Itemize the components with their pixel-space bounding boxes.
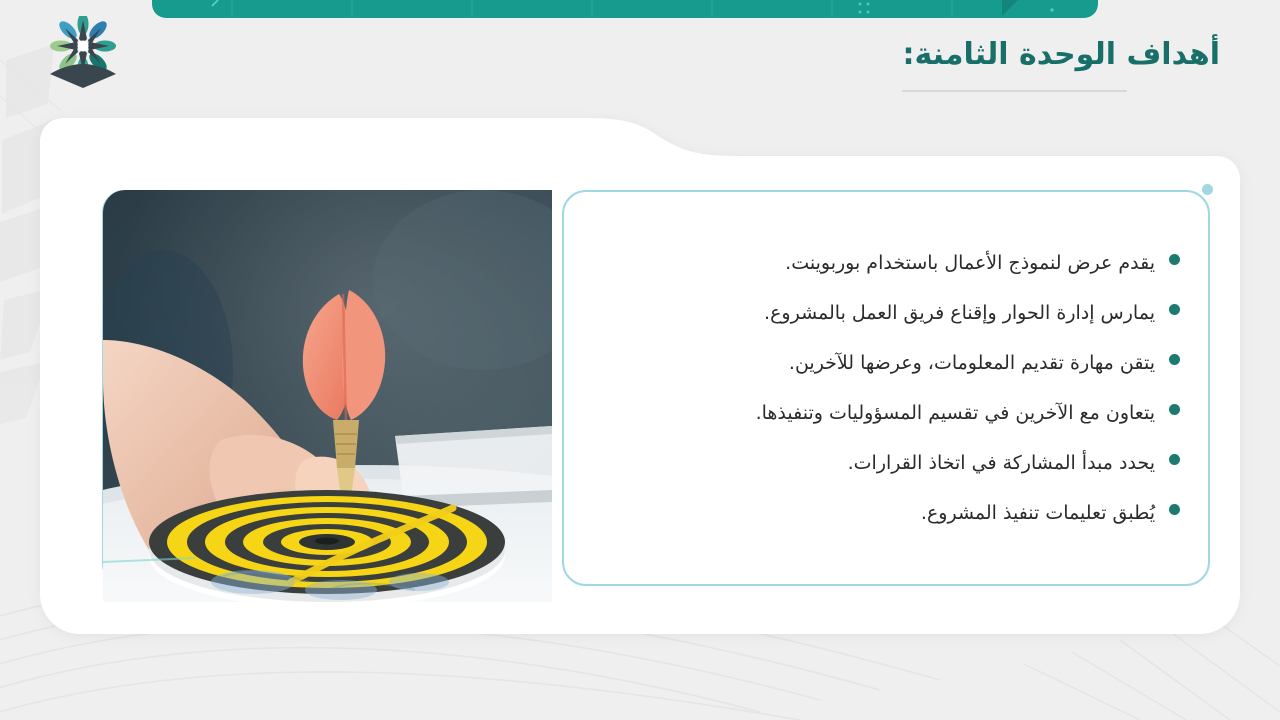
bullet-dot-icon [1169,454,1180,465]
objective-text: يُطبق تعليمات تنفيذ المشروع. [921,488,1155,538]
bullet-dot-icon [1169,404,1180,415]
top-accent-bar [152,0,1098,18]
list-item: يُطبق تعليمات تنفيذ المشروع. [596,488,1180,538]
list-item: يتقن مهارة تقديم المعلومات، وعرضها للآخر… [596,338,1180,388]
bullet-dot-icon [1169,354,1180,365]
title-underline [902,90,1127,92]
list-item: يقدم عرض لنموذج الأعمال باستخدام بوربوين… [596,238,1180,288]
dart-on-target-photo [103,190,552,602]
list-item: يمارس إدارة الحوار وإقناع فريق العمل بال… [596,288,1180,338]
objective-text: يتقن مهارة تقديم المعلومات، وعرضها للآخر… [789,338,1155,388]
bullet-dot-icon [1169,304,1180,315]
objective-text: يمارس إدارة الحوار وإقناع فريق العمل بال… [764,288,1155,338]
list-item: يحدد مبدأ المشاركة في اتخاذ القرارات. [596,438,1180,488]
objective-text: يحدد مبدأ المشاركة في اتخاذ القرارات. [848,438,1155,488]
bullet-dot-icon [1169,504,1180,515]
tvtc-logo-icon [42,16,124,92]
page-title-block: أهداف الوحدة الثامنة: [902,36,1220,92]
objectives-list: يقدم عرض لنموذج الأعمال باستخدام بوربوين… [562,190,1210,586]
page-title: أهداف الوحدة الثامنة: [902,36,1220,74]
list-item: يتعاون مع الآخرين في تقسيم المسؤوليات وت… [596,388,1180,438]
objective-text: يتعاون مع الآخرين في تقسيم المسؤوليات وت… [756,388,1155,438]
slide-root: أهداف الوحدة الثامنة: [0,0,1280,720]
objective-text: يقدم عرض لنموذج الأعمال باستخدام بوربوين… [785,238,1155,288]
bullet-dot-icon [1169,254,1180,265]
